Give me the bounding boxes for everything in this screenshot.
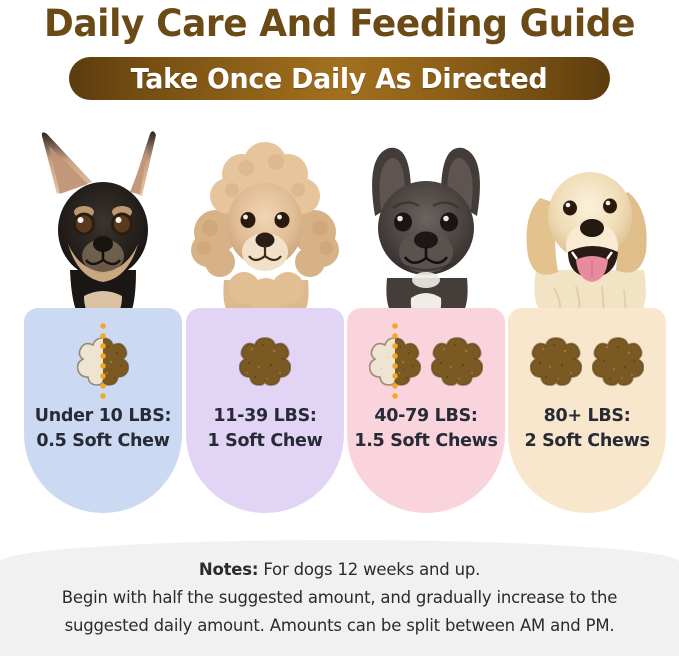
notes-text: Notes: For dogs 12 weeks and up. Begin w…	[0, 556, 679, 640]
notes-line-1-rest: For dogs 12 weeks and up.	[258, 560, 480, 579]
dosage-column: 80+ LBS: 2 Soft Chews	[506, 120, 668, 520]
weight-label: Under 10 LBS:	[24, 404, 182, 429]
notes-label: Notes:	[199, 560, 258, 579]
dosage-card: 40-79 LBS: 1.5 Soft Chews	[347, 308, 505, 513]
feeding-guide-infographic: Daily Care And Feeding Guide Take Once D…	[0, 0, 679, 656]
half-chew	[77, 335, 129, 387]
poodle-photo	[184, 120, 346, 320]
weight-label: 11-39 LBS:	[186, 404, 344, 429]
french-bulldog-photo	[345, 120, 507, 320]
dosage-card: 80+ LBS: 2 Soft Chews	[508, 308, 666, 513]
dosage-card: Under 10 LBS: 0.5 Soft Chew	[24, 308, 182, 513]
page-title: Daily Care And Feeding Guide	[10, 2, 669, 45]
dosage-column: 11-39 LBS: 1 Soft Chew	[184, 120, 346, 520]
dosage-labels: 11-39 LBS: 1 Soft Chew	[186, 404, 344, 454]
dosage-labels: 80+ LBS: 2 Soft Chews	[508, 404, 666, 454]
dose-label: 0.5 Soft Chew	[24, 429, 182, 454]
dosage-labels: 40-79 LBS: 1.5 Soft Chews	[347, 404, 505, 454]
full-chew	[239, 335, 291, 387]
chihuahua-photo	[22, 120, 184, 320]
full-chew	[530, 335, 582, 387]
weight-label: 40-79 LBS:	[347, 404, 505, 429]
notes-line-1: Notes: For dogs 12 weeks and up.	[0, 556, 679, 584]
chew-illustration	[347, 322, 505, 400]
golden-retriever-photo	[506, 120, 668, 320]
dose-divider-dotted-line	[392, 323, 398, 401]
dosage-column: Under 10 LBS: 0.5 Soft Chew	[22, 120, 184, 520]
half-chew	[369, 335, 421, 387]
chew-illustration	[508, 322, 666, 400]
notes-line-2: Begin with half the suggested amount, an…	[0, 584, 679, 612]
directions-banner-text: Take Once Daily As Directed	[131, 62, 548, 95]
dose-label: 1 Soft Chew	[186, 429, 344, 454]
dose-label: 1.5 Soft Chews	[347, 429, 505, 454]
chew-illustration	[186, 322, 344, 400]
dosage-card: 11-39 LBS: 1 Soft Chew	[186, 308, 344, 513]
dosage-column: 40-79 LBS: 1.5 Soft Chews	[345, 120, 507, 520]
full-chew	[592, 335, 644, 387]
dose-label: 2 Soft Chews	[508, 429, 666, 454]
weight-label: 80+ LBS:	[508, 404, 666, 429]
chew-illustration	[24, 322, 182, 400]
directions-banner: Take Once Daily As Directed	[69, 57, 610, 100]
full-chew	[431, 335, 483, 387]
dosage-columns: Under 10 LBS: 0.5 Soft Chew	[0, 120, 679, 520]
dosage-labels: Under 10 LBS: 0.5 Soft Chew	[24, 404, 182, 454]
notes-line-3: suggested daily amount. Amounts can be s…	[0, 612, 679, 640]
dose-divider-dotted-line	[100, 323, 106, 401]
